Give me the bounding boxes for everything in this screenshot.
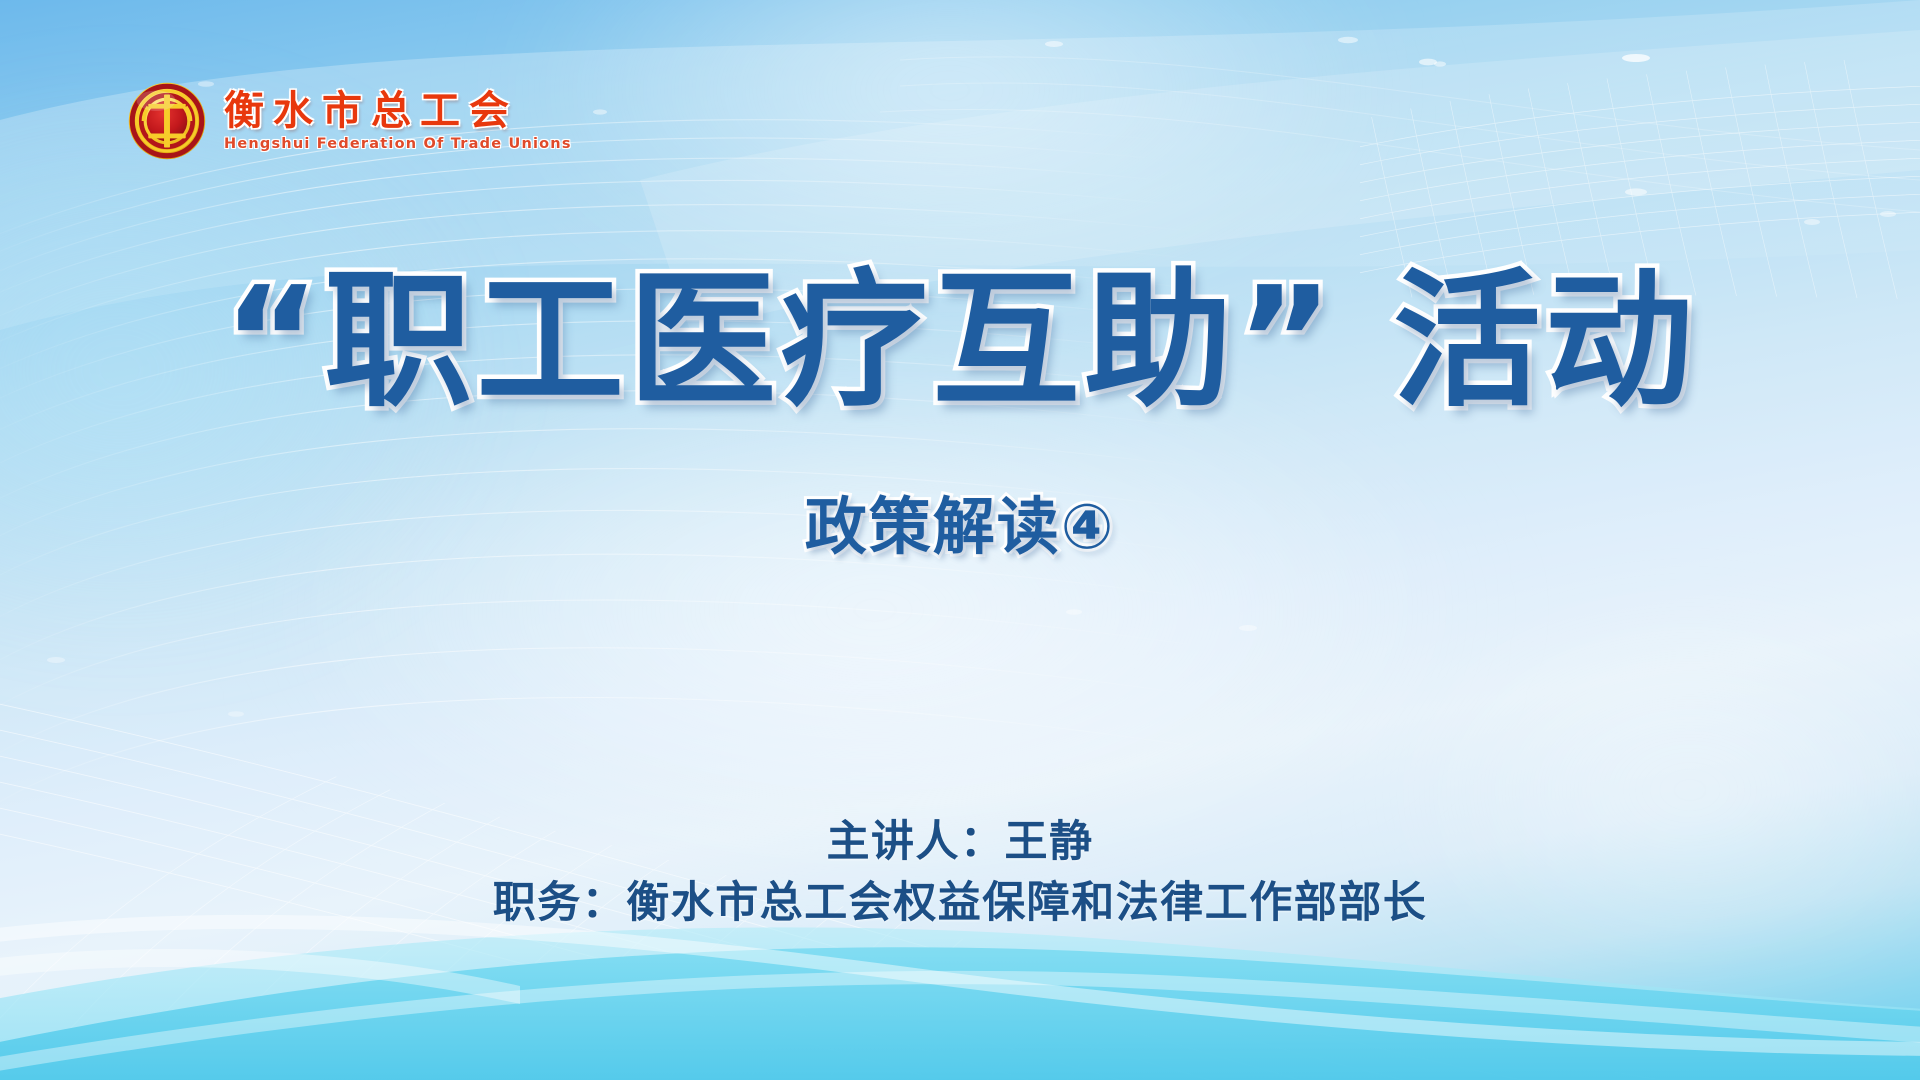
presenter-speaker-line: 主讲人：王静 xyxy=(0,812,1920,873)
title-slide: 衡水市总工会 Hengshui Federation Of Trade Unio… xyxy=(0,0,1920,1080)
presenter-info: 主讲人：王静 职务：衡水市总工会权益保障和法律工作部部长 xyxy=(0,812,1920,934)
slide-headline: “职工医疗互助” 活动 xyxy=(0,262,1920,422)
slide-subheadline: 政策解读④ xyxy=(0,476,1920,566)
trade-union-emblem-icon xyxy=(128,82,206,160)
logo-text-group: 衡水市总工会 Hengshui Federation Of Trade Unio… xyxy=(224,90,572,152)
organization-name-cn: 衡水市总工会 xyxy=(224,90,572,132)
presenter-role-line: 职务：衡水市总工会权益保障和法律工作部部长 xyxy=(0,873,1920,934)
organization-name-en: Hengshui Federation Of Trade Unions xyxy=(224,136,572,152)
organization-logo: 衡水市总工会 Hengshui Federation Of Trade Unio… xyxy=(128,82,572,160)
